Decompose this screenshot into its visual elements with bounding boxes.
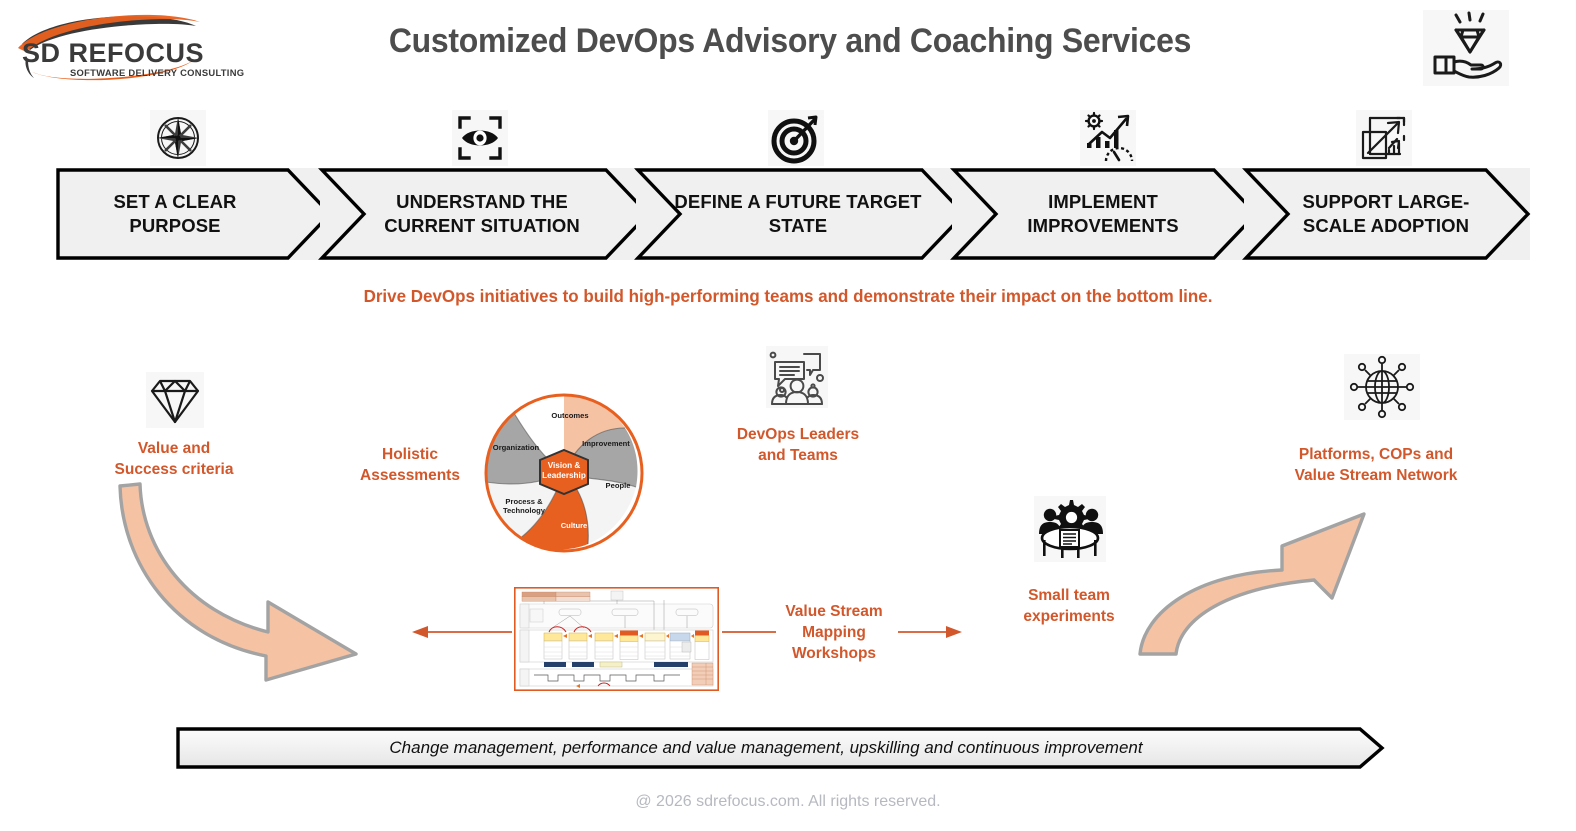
arrow-left-icon xyxy=(412,624,512,640)
value-stream-map-thumbnail[interactable] xyxy=(514,587,719,691)
page-title: Customized DevOps Advisory and Coaching … xyxy=(367,22,1213,61)
vsm-workshops-label: Value Stream Mapping Workshops xyxy=(758,601,910,664)
process-step-2[interactable]: UNDERSTAND THE CURRENT SITUATION xyxy=(320,168,650,260)
globe-network-icon xyxy=(1344,354,1420,420)
process-step-4[interactable]: IMPLEMENT IMPROVEMENTS xyxy=(952,168,1258,260)
hand-holding-diamond-icon xyxy=(1423,10,1509,86)
process-step-1-label: SET A CLEAR PURPOSE xyxy=(56,190,294,237)
compass-rose-icon xyxy=(150,110,206,166)
team-chat-icon xyxy=(766,346,828,408)
process-step-3-label: DEFINE A FUTURE TARGET STATE xyxy=(658,190,938,237)
scale-up-chart-icon xyxy=(1356,110,1412,166)
process-step-5[interactable]: SUPPORT LARGE-SCALE ADOPTION xyxy=(1244,168,1530,260)
wheel-segment-outcomes: Outcomes xyxy=(551,411,588,420)
target-dart-icon xyxy=(768,110,824,166)
wheel-segment-improvement: Improvement xyxy=(582,439,630,448)
company-logo: SD REFOCUS SOFTWARE DELIVERY CONSULTING xyxy=(14,8,204,88)
growth-chart-gear-icon xyxy=(1080,110,1136,166)
tagline-text: Drive DevOps initiatives to build high-p… xyxy=(24,286,1553,307)
logo-tagline-text: SOFTWARE DELIVERY CONSULTING xyxy=(70,67,244,78)
wheel-center-line1: Vision & xyxy=(548,461,581,470)
devops-capability-wheel: Vision & Leadership Outcomes Improvement… xyxy=(478,392,650,554)
footer-copyright: @ 2026 sdrefocus.com. All rights reserve… xyxy=(0,793,1576,811)
wheel-center-line2: Leadership xyxy=(542,471,586,480)
process-step-3[interactable]: DEFINE A FUTURE TARGET STATE xyxy=(636,168,966,260)
wheel-segment-process: Process & xyxy=(505,497,543,506)
eye-viewfinder-icon xyxy=(452,110,508,166)
process-step-5-label: SUPPORT LARGE-SCALE ADOPTION xyxy=(1266,190,1506,237)
wheel-segment-organization: Organization xyxy=(493,443,540,452)
curved-arrow-down-right xyxy=(118,480,418,680)
meeting-gear-icon xyxy=(1034,496,1106,562)
slide-canvas: SD REFOCUS SOFTWARE DELIVERY CONSULTING … xyxy=(0,0,1576,831)
process-step-2-label: UNDERSTAND THE CURRENT SITUATION xyxy=(342,190,622,237)
wheel-segment-technology: Technology xyxy=(503,506,546,515)
process-step-1[interactable]: SET A CLEAR PURPOSE xyxy=(56,168,332,260)
wheel-segment-culture: Culture xyxy=(561,521,588,530)
bottom-banner-label: Change management, performance and value… xyxy=(176,738,1356,758)
platforms-cops-label: Platforms, COPs and Value Stream Network xyxy=(1272,444,1480,486)
small-team-label: Small team experiments xyxy=(998,585,1140,627)
diamond-icon xyxy=(146,372,204,428)
process-step-4-label: IMPLEMENT IMPROVEMENTS xyxy=(974,190,1232,237)
value-success-label: Value and Success criteria xyxy=(96,438,252,480)
devops-leaders-label: DevOps Leaders and Teams xyxy=(710,424,886,466)
wheel-segment-people: People xyxy=(606,481,631,490)
logo-primary-text: SD REFOCUS xyxy=(22,38,204,68)
curved-arrow-up-right xyxy=(1136,500,1368,656)
holistic-assessments-label: Holistic Assessments xyxy=(332,444,488,486)
